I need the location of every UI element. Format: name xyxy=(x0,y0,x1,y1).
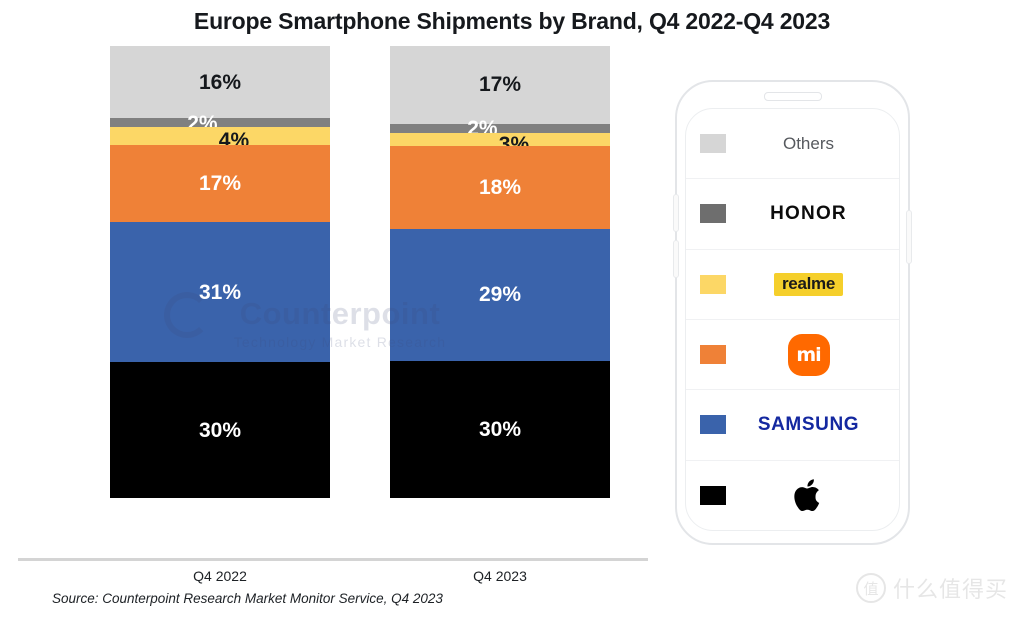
x-axis-line xyxy=(18,558,648,561)
apple-logo-icon xyxy=(792,475,826,515)
legend-row-apple[interactable] xyxy=(686,461,899,530)
bar-segment-value-label: 30% xyxy=(479,419,521,440)
bar-segment-value-label: 17% xyxy=(479,74,521,95)
legend-swatch-honor xyxy=(700,204,726,223)
samsung-wordmark: SAMSUNG xyxy=(758,414,859,436)
phone-volume-up-button[interactable] xyxy=(673,194,679,232)
legend-row-honor[interactable]: HONOR xyxy=(686,179,899,249)
axis-tick-label-q4-2023: Q4 2023 xyxy=(390,568,610,584)
legend-mark-realme: realme xyxy=(732,273,885,296)
corner-watermark-text: 什么值得买 xyxy=(893,572,1008,604)
stacked-bar-q4-2022: 16%2%4%17%31%30% xyxy=(110,46,330,498)
legend-row-samsung[interactable]: SAMSUNG xyxy=(686,390,899,460)
legend-mark-others: Others xyxy=(732,134,885,154)
honor-wordmark: HONOR xyxy=(770,203,847,225)
bar-segment-xiaomi: 18% xyxy=(390,146,610,228)
bar-segment-others: 17% xyxy=(390,46,610,124)
legend-list: OthersHONORrealmemiSAMSUNG xyxy=(685,108,900,531)
corner-watermark-badge-icon: 值 xyxy=(856,573,886,603)
legend-mark-samsung: SAMSUNG xyxy=(732,414,885,436)
legend-swatch-realme xyxy=(700,275,726,294)
legend-row-realme[interactable]: realme xyxy=(686,250,899,320)
others-swatch: Others xyxy=(783,134,834,154)
legend-mark-apple xyxy=(732,475,885,515)
axis-tick-label-q4-2022: Q4 2022 xyxy=(110,568,330,584)
source-note: Source: Counterpoint Research Market Mon… xyxy=(52,591,443,606)
legend-mark-xiaomi: mi xyxy=(732,334,885,376)
bar-segment-value-label: 29% xyxy=(479,284,521,305)
corner-watermark: 值 什么值得买 xyxy=(856,572,1008,604)
bar-segment-apple: 30% xyxy=(390,361,610,498)
realme-wordmark: realme xyxy=(774,273,843,296)
bar-segment-honor: 2% xyxy=(110,118,330,127)
bar-segment-value-label: 18% xyxy=(479,177,521,198)
bar-segment-realme: 4% xyxy=(110,127,330,145)
stacked-bar-q4-2023: 17%2%3%18%29%30% xyxy=(390,46,610,498)
legend-swatch-apple xyxy=(700,486,726,505)
bar-segment-value-label: 17% xyxy=(199,173,241,194)
legend-phone-mockup: OthersHONORrealmemiSAMSUNG xyxy=(675,80,910,545)
legend-row-xiaomi[interactable]: mi xyxy=(686,320,899,390)
legend-mark-honor: HONOR xyxy=(732,203,885,225)
bar-segment-realme: 3% xyxy=(390,133,610,147)
bar-segment-value-label: 30% xyxy=(199,420,241,441)
legend-row-others[interactable]: Others xyxy=(686,109,899,179)
bar-segment-apple: 30% xyxy=(110,362,330,498)
bar-segment-honor: 2% xyxy=(390,124,610,133)
bar-segment-others: 16% xyxy=(110,46,330,118)
bar-segment-samsung: 29% xyxy=(390,229,610,361)
bar-segment-value-label: 31% xyxy=(199,282,241,303)
bar-segment-value-label: 16% xyxy=(199,72,241,93)
phone-power-button[interactable] xyxy=(906,210,912,264)
phone-volume-down-button[interactable] xyxy=(673,240,679,278)
legend-swatch-xiaomi xyxy=(700,345,726,364)
chart-plot-area: 16%2%4%17%31%30% 17%2%3%18%29%30% Counte… xyxy=(0,60,660,560)
xiaomi-logo: mi xyxy=(788,334,830,376)
page-title: Europe Smartphone Shipments by Brand, Q4… xyxy=(0,8,1024,35)
bar-segment-samsung: 31% xyxy=(110,222,330,362)
bar-segment-xiaomi: 17% xyxy=(110,145,330,222)
phone-earpiece-icon xyxy=(764,92,822,101)
legend-swatch-samsung xyxy=(700,415,726,434)
legend-swatch-others xyxy=(700,134,726,153)
